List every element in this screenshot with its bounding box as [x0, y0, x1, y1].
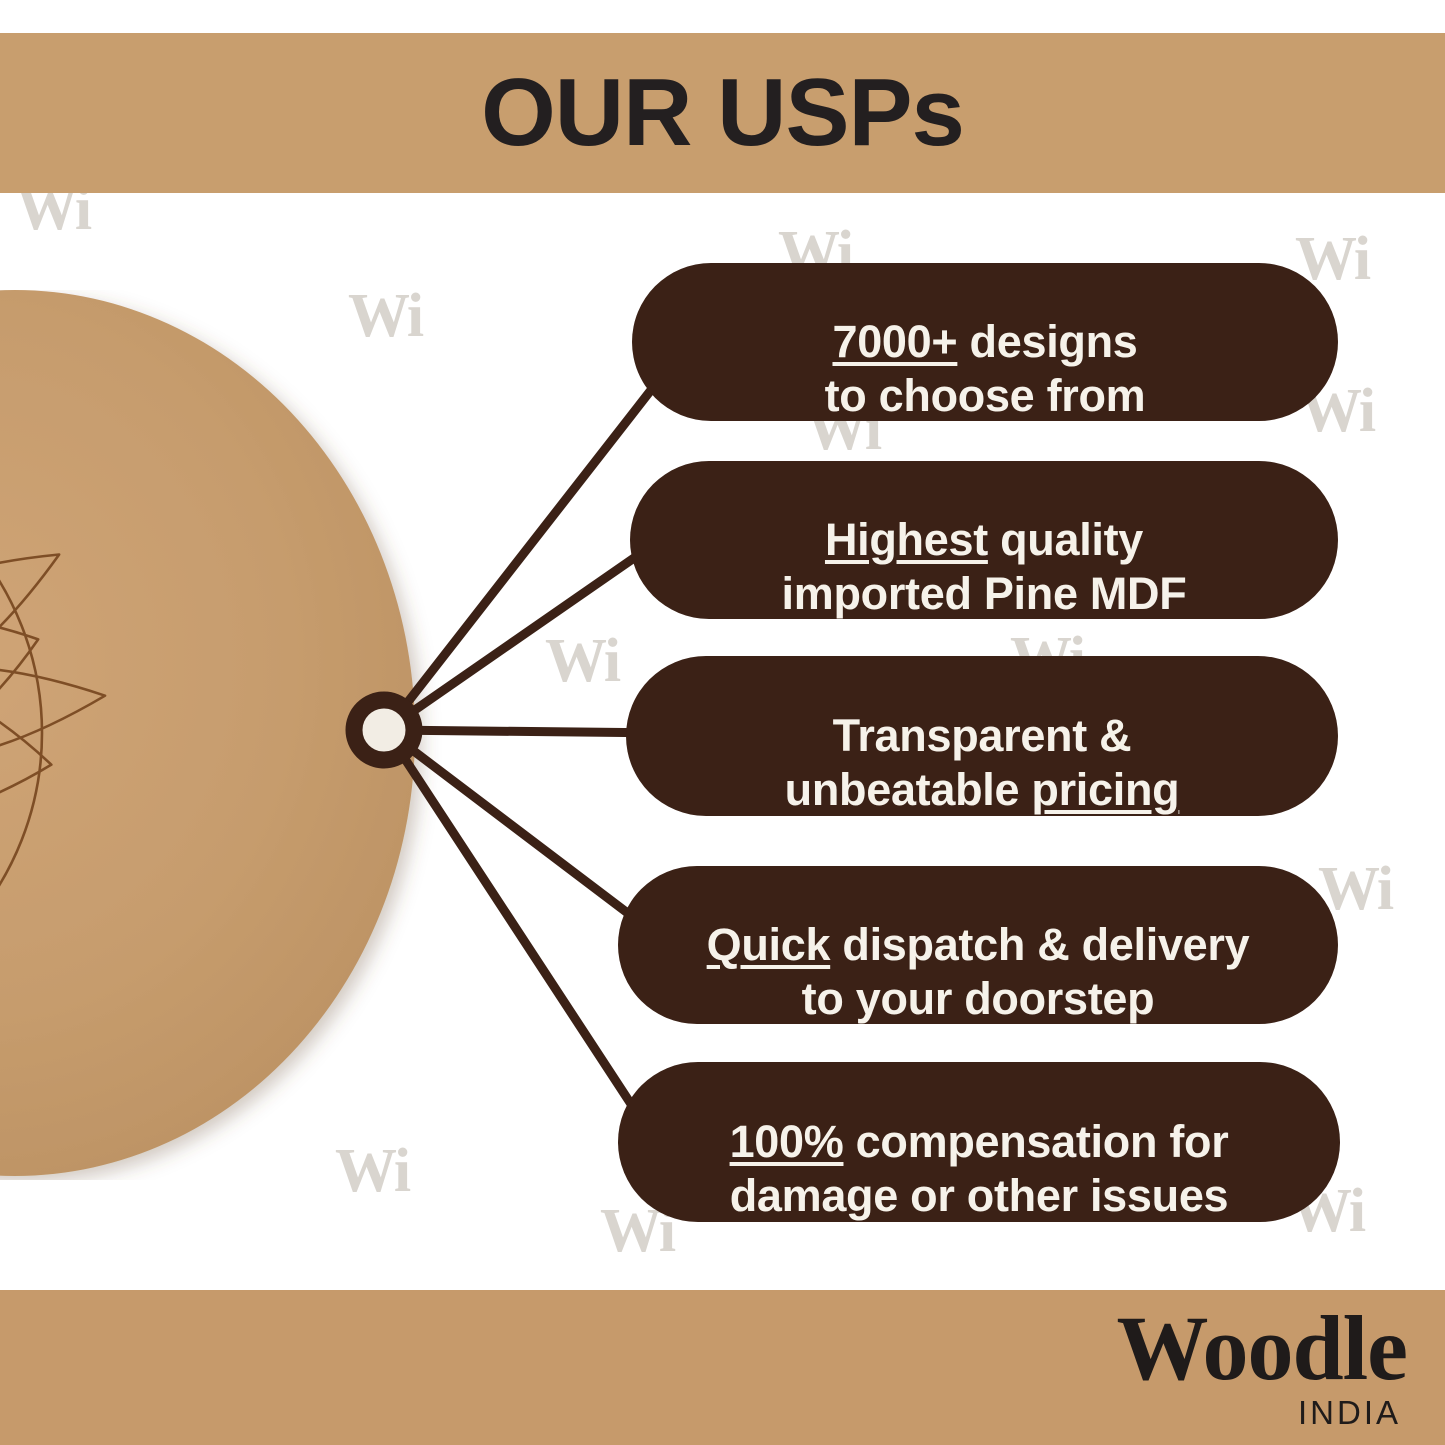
- usp-pill-text: Highest qualityimported Pine MDF: [782, 458, 1187, 623]
- usp-rest-line1: quality: [988, 514, 1143, 565]
- page-title: OUR USPs: [481, 65, 964, 161]
- usp-rest-line1: compensation for: [843, 1116, 1228, 1167]
- usp-pill-text: 7000+ designsto choose from: [825, 260, 1146, 425]
- usp-highlight: Quick: [707, 919, 831, 970]
- usp-line2: damage or other issues: [730, 1170, 1229, 1221]
- usp-highlight: 100%: [730, 1116, 844, 1167]
- usp-rest-line1: designs: [957, 316, 1137, 367]
- usp-highlight: pricing: [1031, 764, 1179, 815]
- usp-highlight: 7000+: [832, 316, 957, 367]
- usp-line2: imported Pine MDF: [782, 568, 1187, 619]
- brand-logo: Woodle INDIA: [1117, 1302, 1407, 1429]
- usp-pill-text: 100% compensation fordamage or other iss…: [730, 1060, 1229, 1225]
- usp-pill-dispatch-delivery[interactable]: Quick dispatch & deliveryto your doorste…: [618, 866, 1338, 1024]
- usp-list: 7000+ designsto choose from Highest qual…: [0, 0, 1445, 1445]
- header-band: OUR USPs: [0, 33, 1445, 193]
- usp-pill-pricing[interactable]: Transparent &unbeatable pricing: [626, 656, 1338, 816]
- usp-line2: to choose from: [825, 370, 1146, 421]
- brand-logo-subtitle: INDIA: [1117, 1396, 1401, 1429]
- usp-line2: to your doorstep: [802, 973, 1155, 1024]
- usp-line2: unbeatable: [785, 764, 1032, 815]
- usp-rest-line1: dispatch & delivery: [830, 919, 1249, 970]
- infographic-canvas: Wi Wi Wi Wi Wi Wi Wi Wi Wi Wi Wi Wi: [0, 0, 1445, 1445]
- usp-pill-text: Quick dispatch & deliveryto your doorste…: [707, 863, 1250, 1028]
- usp-pill-designs-count[interactable]: 7000+ designsto choose from: [632, 263, 1338, 421]
- usp-line1: Transparent &: [833, 710, 1132, 761]
- usp-pill-compensation[interactable]: 100% compensation fordamage or other iss…: [618, 1062, 1340, 1222]
- usp-highlight: Highest: [825, 514, 988, 565]
- usp-pill-text: Transparent &unbeatable pricing: [785, 654, 1180, 819]
- brand-logo-word: Woodle: [1117, 1302, 1407, 1394]
- usp-pill-material-quality[interactable]: Highest qualityimported Pine MDF: [630, 461, 1338, 619]
- footer-band: Woodle INDIA: [0, 1290, 1445, 1445]
